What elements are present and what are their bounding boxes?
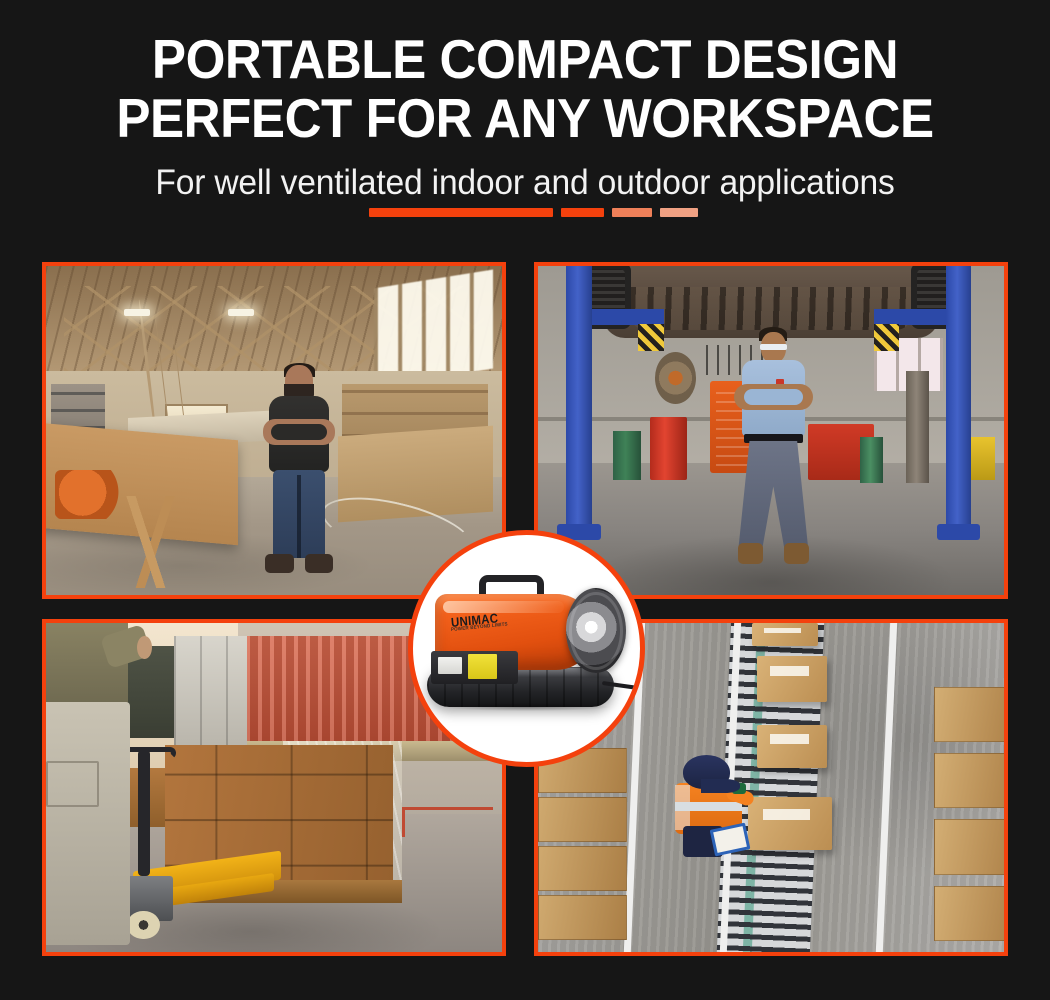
headline-line-1: PORTABLE COMPACT DESIGN [37, 0, 1014, 89]
spec-label [438, 657, 463, 674]
warning-label [468, 654, 498, 678]
headline-line-2: PERFECT FOR ANY WORKSPACE [37, 89, 1014, 148]
promo-banner: PORTABLE COMPACT DESIGN PERFECT FOR ANY … [0, 0, 1050, 1000]
divider-segment-1 [369, 208, 553, 217]
photo-panel-top-right [534, 262, 1008, 599]
carpenter-figure [260, 365, 338, 576]
workshop-photo [46, 266, 502, 595]
control-box [431, 651, 519, 684]
auto-garage-photo [538, 266, 1004, 595]
divider-segment-2 [561, 208, 604, 217]
divider [0, 208, 1050, 220]
carry-handle [479, 575, 545, 594]
conveyor-worker-figure [673, 755, 743, 857]
pallet-jack [124, 811, 288, 943]
photo-panel-top-left [42, 262, 506, 599]
product-highlight-circle: UNIMAC POWER BEYOND LIMITS [408, 530, 645, 767]
nozzle-ring [569, 592, 623, 670]
warehouse-worker-figure [46, 623, 128, 945]
divider-segment-3 [612, 208, 652, 217]
mechanic-figure [736, 332, 811, 569]
divider-segment-4 [660, 208, 698, 217]
subtitle: For well ventilated indoor and outdoor a… [21, 163, 1029, 203]
diesel-heater-product: UNIMAC POWER BEYOND LIMITS [427, 589, 627, 707]
